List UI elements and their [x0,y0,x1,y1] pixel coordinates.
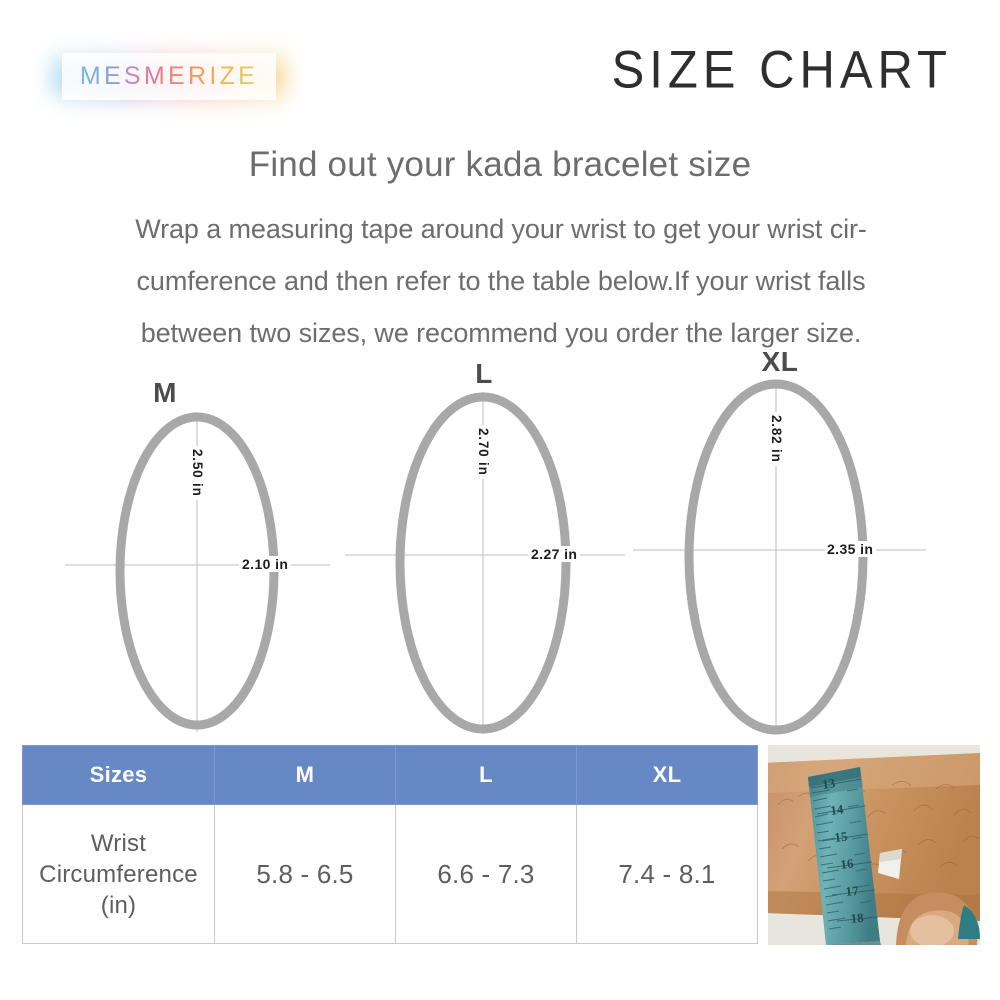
cell-m-range: 5.8 - 6.5 [215,805,396,944]
row-label-wrist-circumference: Wrist Circumference (in) [23,805,215,944]
oval-width-label-xl: 2.35 in [824,541,876,557]
oval-width-label-l: 2.27 in [528,546,580,562]
brand-logo: MESMERIZE [50,45,288,108]
table-row: Wrist Circumference (in) 5.8 - 6.5 6.6 -… [23,805,758,944]
intro-line-1: Wrap a measuring tape around your wrist … [48,203,954,255]
tape-mark-18: 18 [850,910,865,926]
table-header-row: Sizes M L XL [23,746,758,805]
oval-height-label-xl: 2.82 in [769,412,784,466]
intro-paragraph: Wrap a measuring tape around your wrist … [48,203,954,359]
table-header-m: M [215,746,396,805]
page-title: SIZE CHART [612,40,952,100]
size-table: Sizes M L XL Wrist Circumference (in) 5.… [22,745,758,944]
tape-mark-16: 16 [840,855,855,872]
wrist-photo-illustration: 13 14 15 16 17 18 [768,745,980,945]
oval-shape-xl [628,350,928,745]
oval-height-label-m: 2.50 in [190,446,205,500]
oval-width-label-m: 2.10 in [239,556,291,572]
intro-line-2: cumference and then refer to the table b… [48,255,954,307]
row-label-line-2: Circumference [24,859,213,890]
oval-diagram-xl: XL 2.35 in 2.82 in [628,350,928,745]
section-heading: Find out your kada bracelet size [0,145,1000,185]
tape-mark-15: 15 [834,828,849,845]
table-header-xl: XL [577,746,758,805]
tape-mark-17: 17 [845,883,860,899]
oval-diagrams: M 2.10 in 2.50 in L 2.27 in 2.70 in XL 2… [0,350,1000,745]
cell-l-range: 6.6 - 7.3 [396,805,577,944]
table-header-l: L [396,746,577,805]
oval-diagram-m: M 2.10 in 2.50 in [55,350,340,745]
oval-height-label-l: 2.70 in [476,425,491,479]
wrist-measuring-photo: 13 14 15 16 17 18 [768,745,980,945]
oval-diagram-l: L 2.27 in 2.70 in [340,350,630,745]
oval-shape-l [340,350,630,745]
row-label-line-3: (in) [24,890,213,921]
cell-xl-range: 7.4 - 8.1 [577,805,758,944]
tape-mark-14: 14 [829,801,844,818]
oval-shape-m [55,350,340,745]
table-header-sizes: Sizes [23,746,215,805]
logo-wordmark: MESMERIZE [62,53,276,100]
row-label-line-1: Wrist [24,828,213,859]
